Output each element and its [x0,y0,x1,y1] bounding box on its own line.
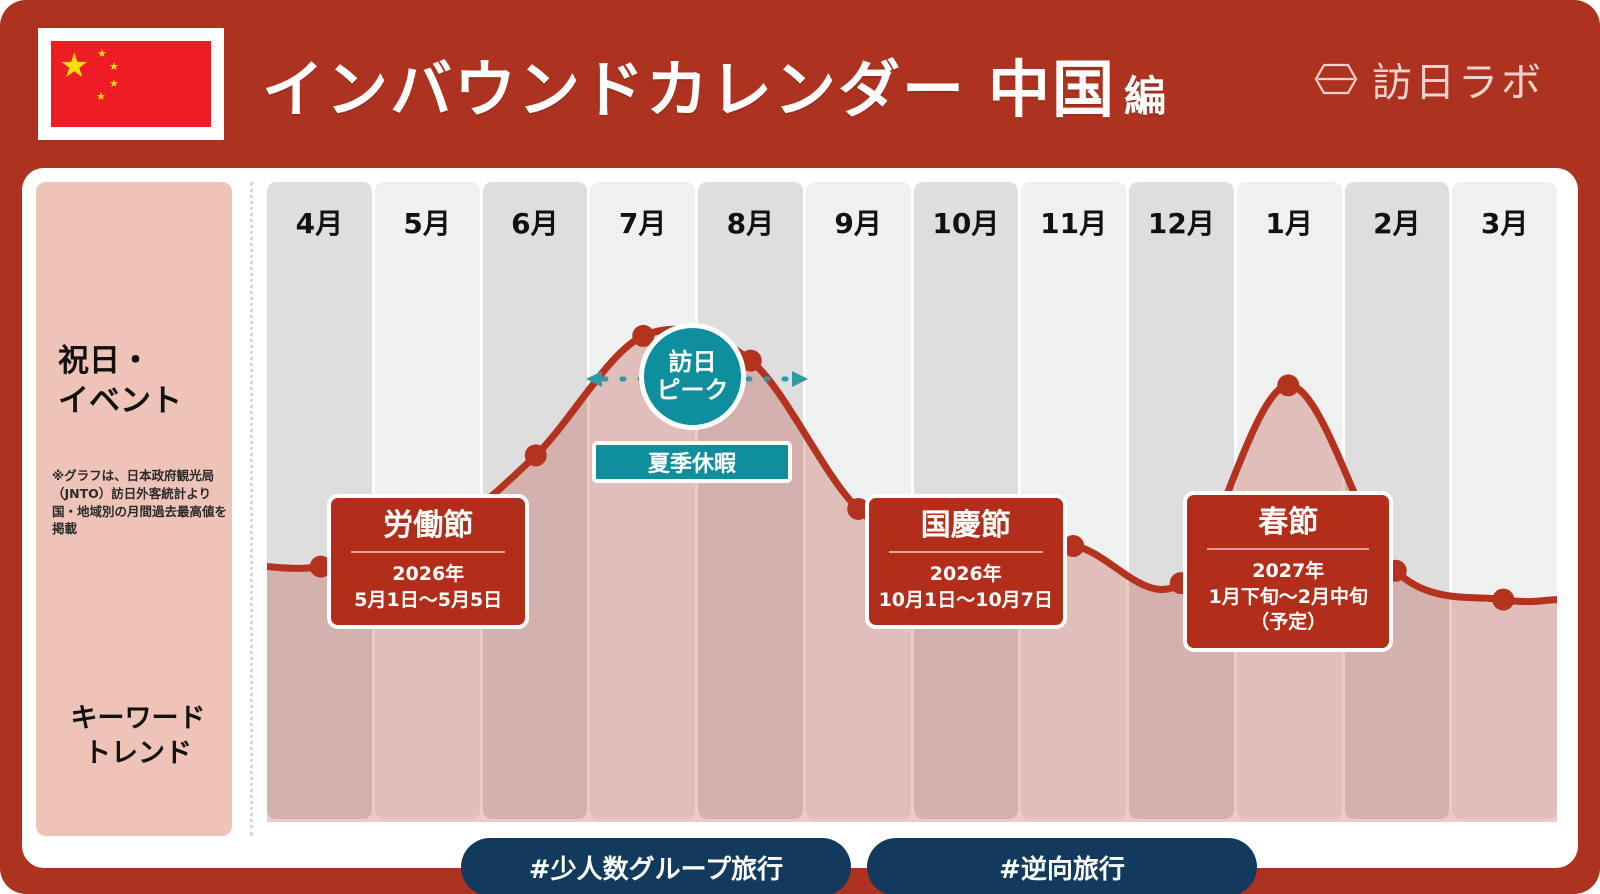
month-label: 10月 [914,202,1019,242]
keyword-row-label: キーワード トレンド [58,702,218,771]
event-card-国慶節: 国慶節2026年 10月1日〜10月7日 [865,494,1067,629]
flag-star-3: ★ [109,78,119,89]
flag-star-4: ★ [96,91,106,102]
month-column-3月: 3月 [1452,182,1557,819]
flag-star-large: ★ [59,49,89,83]
inbound-chart: 4月5月6月7月8月9月10月11月12月1月2月3月 訪日 ピーク 夏季休暇 [267,182,1557,822]
holiday-row-label: 祝日・ イベント [58,342,182,421]
event-rule [889,551,1043,553]
brand-logo: 訪日ラボ [1314,50,1544,108]
month-label: 4月 [267,202,372,242]
keyword-pill[interactable]: #少人数グループ旅行 [461,838,851,894]
flag-star-1: ★ [97,48,107,59]
title-main: インバウンドカレンダー [262,53,966,126]
flag-star-2: ★ [109,61,119,72]
title-country: 中国 [988,53,1116,126]
month-label: 8月 [698,202,803,242]
month-label: 12月 [1129,202,1234,242]
brand-name: 訪日ラボ [1372,50,1544,108]
hobo-lab-mark-icon [1314,59,1358,99]
event-card-春節: 春節2027年 1月下旬〜2月中旬 （予定） [1183,491,1393,652]
month-label: 9月 [806,202,911,242]
row-label-column: 祝日・ イベント ※グラフは、日本政府観光局（JNTO）訪日外客統計より国・地域… [36,182,232,836]
summer-vacation-badge: 夏季休暇 [592,441,792,483]
month-column-7月: 7月 [590,182,695,819]
event-dates: 2026年 10月1日〜10月7日 [877,562,1055,613]
event-dates: 2027年 1月下旬〜2月中旬 （予定） [1195,559,1381,635]
month-label: 5月 [375,202,480,242]
event-title: 労働節 [339,508,517,551]
infographic-root: ★ ★ ★ ★ ★ インバウンドカレンダー中国編 訪日ラボ 祝日・ イベント ※… [0,0,1600,894]
keyword-pills: #少人数グループ旅行#逆向旅行#モノからコト（体験）#質価比 [267,832,1557,894]
event-card-労働節: 労働節2026年 5月1日〜5月5日 [327,494,529,629]
event-title: 国慶節 [877,508,1055,551]
month-label: 2月 [1345,202,1450,242]
event-dates: 2026年 5月1日〜5月5日 [339,562,517,613]
data-source-note: ※グラフは、日本政府観光局（JNTO）訪日外客統計より国・地域別の月間過去最高値… [52,467,230,538]
event-rule [1207,548,1369,550]
peak-badge: 訪日 ピーク [639,323,746,430]
month-label: 11月 [1021,202,1126,242]
event-title: 春節 [1195,505,1381,548]
title-suffix: 編 [1124,72,1168,121]
content-card: 祝日・ イベント ※グラフは、日本政府観光局（JNTO）訪日外客統計より国・地域… [22,168,1578,868]
header: ★ ★ ★ ★ ★ インバウンドカレンダー中国編 訪日ラボ [0,0,1600,168]
page-title: インバウンドカレンダー中国編 [262,39,1168,129]
event-rule [351,551,505,553]
month-column-8月: 8月 [698,182,803,819]
month-label: 7月 [590,202,695,242]
china-flag-icon: ★ ★ ★ ★ ★ [38,28,224,140]
keyword-pill[interactable]: #逆向旅行 [867,838,1257,894]
month-label: 6月 [483,202,588,242]
month-label: 1月 [1237,202,1342,242]
month-label: 3月 [1452,202,1557,242]
column-divider [250,182,253,836]
